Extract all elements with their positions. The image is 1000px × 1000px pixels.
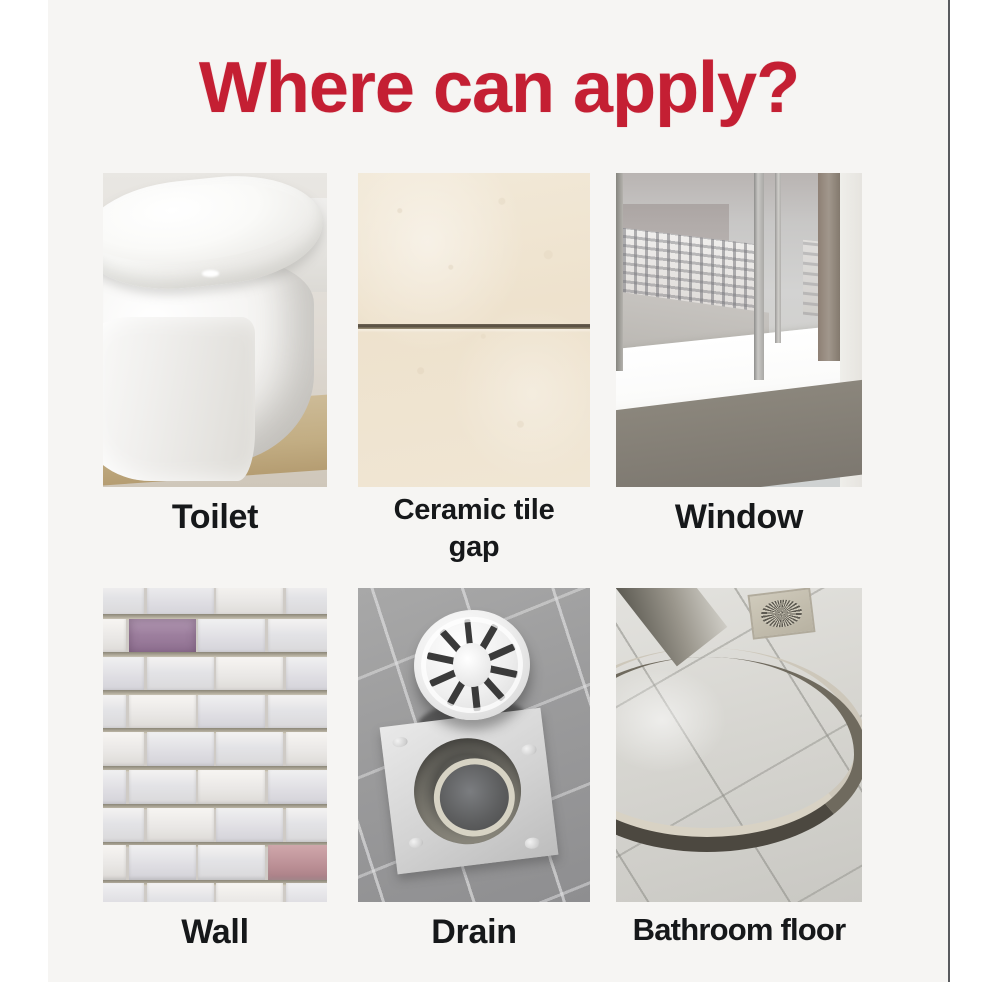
caption-toilet: Toilet: [75, 497, 355, 537]
caption-ceramic-tile-gap-line1: Ceramic tile: [330, 493, 618, 527]
caption-drain: Drain: [330, 912, 618, 952]
grid-item-ceramic-tile-gap[interactable]: Ceramic tile gap: [358, 173, 590, 487]
grid-item-toilet[interactable]: Toilet: [103, 173, 327, 487]
caption-wall: Wall: [75, 912, 355, 952]
caption-bathroom-floor: Bathroom floor: [588, 912, 890, 949]
bathroom-floor-photo: [616, 588, 862, 902]
floor-drain-photo: [358, 588, 590, 902]
grid-item-bathroom-floor[interactable]: Bathroom floor: [616, 588, 862, 902]
tile-grout-line: [358, 324, 590, 329]
brick-wall-photo: [103, 588, 327, 902]
poster: Where can apply? Toilet Ceramic tile: [0, 0, 1000, 1000]
grid-item-wall[interactable]: Wall: [103, 588, 327, 902]
caption-window: Window: [588, 497, 890, 537]
window-photo: [616, 173, 862, 487]
drain-base-plate: [380, 707, 559, 873]
grid-item-window[interactable]: Window: [616, 173, 862, 487]
caption-ceramic-tile-gap-line2: gap: [330, 530, 618, 564]
floor-drain-grate: [747, 588, 815, 640]
ceramic-tile-photo: [358, 173, 590, 487]
toilet-photo: [103, 173, 327, 487]
grid-item-drain[interactable]: Drain: [358, 588, 590, 902]
apply-locations-grid: Toilet Ceramic tile gap: [0, 0, 1000, 1000]
